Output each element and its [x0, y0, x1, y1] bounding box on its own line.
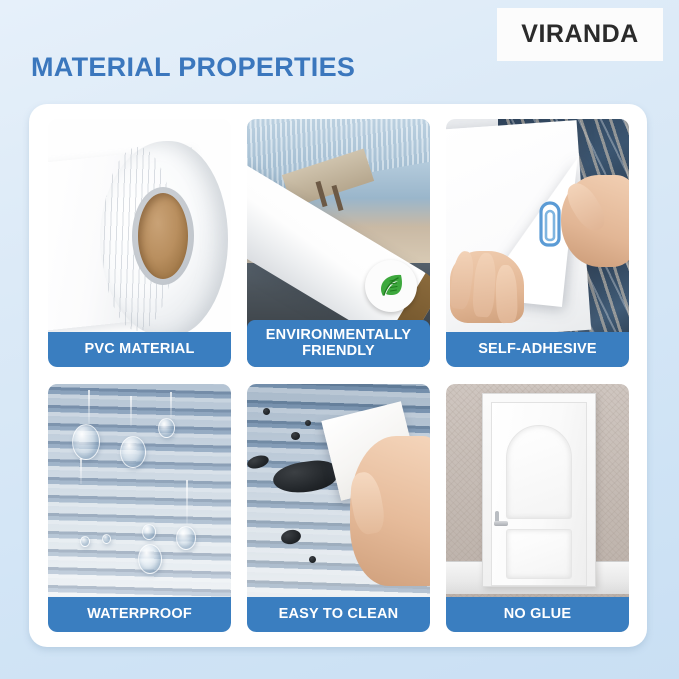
feature-card-environmentally-friendly: ENVIRONMENTALLY FRIENDLY: [247, 119, 430, 367]
feature-label-no-glue: NO GLUE: [446, 597, 629, 632]
feature-label-environmentally-friendly: ENVIRONMENTALLY FRIENDLY: [247, 320, 430, 367]
easy-to-clean-image: [247, 384, 430, 632]
feature-label-line-1: ENVIRONMENTALLY: [266, 327, 412, 343]
infographic-page: VIRANDA MATERIAL PROPERTIES PVC MATERIAL: [0, 0, 679, 679]
feature-label-line-2: FRIENDLY: [302, 343, 375, 359]
leaf-icon: [365, 260, 417, 312]
feature-card-pvc-material: PVC MATERIAL: [48, 119, 231, 367]
feature-label-pvc-material: PVC MATERIAL: [48, 332, 231, 367]
feature-card-self-adhesive: SELF-ADHESIVE: [446, 119, 629, 367]
feature-grid: PVC MATERIAL: [48, 119, 630, 632]
pvc-material-image: [48, 119, 231, 367]
self-adhesive-image: [446, 119, 629, 367]
brand-logo-text: VIRANDA: [521, 20, 638, 49]
feature-card-no-glue: NO GLUE: [446, 384, 629, 632]
feature-card-easy-to-clean: EASY TO CLEAN: [247, 384, 430, 632]
page-title: MATERIAL PROPERTIES: [31, 52, 355, 83]
feature-label-easy-to-clean: EASY TO CLEAN: [247, 597, 430, 632]
waterproof-image: [48, 384, 231, 632]
feature-card-waterproof: WATERPROOF: [48, 384, 231, 632]
no-glue-image: [446, 384, 629, 632]
brand-logo-box: VIRANDA: [497, 8, 663, 61]
feature-label-waterproof: WATERPROOF: [48, 597, 231, 632]
feature-label-self-adhesive: SELF-ADHESIVE: [446, 332, 629, 367]
